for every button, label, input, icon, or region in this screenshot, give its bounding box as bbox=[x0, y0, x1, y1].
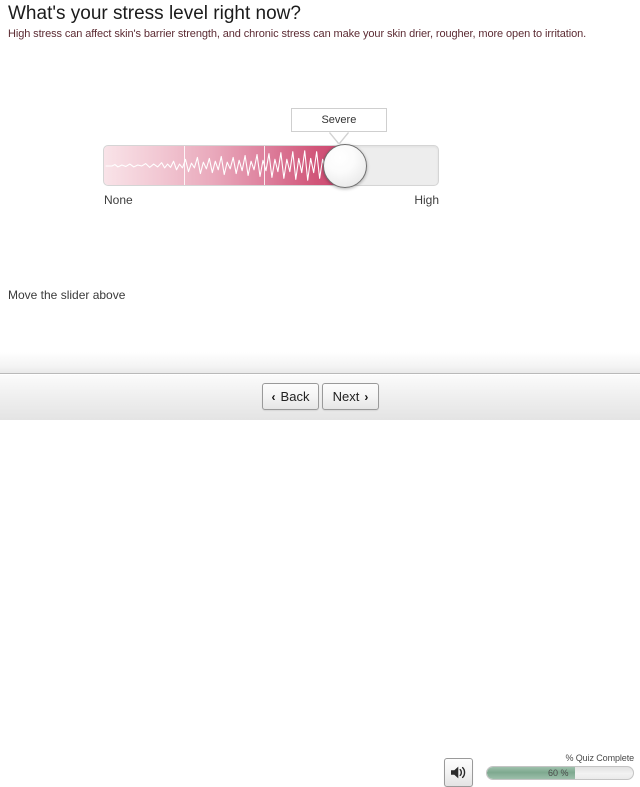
slider-handle[interactable] bbox=[323, 144, 367, 188]
next-button-label: Next bbox=[333, 389, 360, 404]
page-subtitle: High stress can affect skin's barrier st… bbox=[8, 27, 586, 41]
instruction-text: Move the slider above bbox=[8, 288, 125, 302]
slider-tick-1 bbox=[184, 146, 185, 185]
next-button[interactable]: Next › bbox=[322, 383, 379, 410]
stress-level-slider[interactable]: Severe None High bbox=[103, 108, 439, 208]
tooltip-pointer-icon bbox=[330, 132, 348, 143]
quiz-progress-bar: 60 % bbox=[486, 766, 634, 780]
back-button[interactable]: ‹ Back bbox=[262, 383, 319, 410]
page-title: What's your stress level right now? bbox=[8, 2, 301, 25]
slider-fill bbox=[104, 146, 344, 185]
slider-value-tooltip: Severe bbox=[291, 108, 387, 132]
slider-min-label: None bbox=[104, 193, 133, 207]
slider-max-label: High bbox=[414, 193, 439, 207]
chevron-right-icon: › bbox=[364, 391, 368, 403]
ekg-waveform-icon bbox=[104, 146, 344, 185]
speaker-icon bbox=[450, 765, 467, 780]
chevron-left-icon: ‹ bbox=[272, 391, 276, 403]
bottom-navigation-bar: ‹ Back Next › % Quiz Complete 60 % bbox=[0, 374, 640, 420]
audio-toggle-button[interactable] bbox=[444, 758, 473, 787]
back-button-label: Back bbox=[281, 389, 310, 404]
progress-caption: % Quiz Complete bbox=[486, 753, 634, 763]
slider-track[interactable] bbox=[103, 145, 439, 186]
bottom-bar-fade bbox=[0, 352, 640, 373]
slider-tick-2 bbox=[264, 146, 265, 185]
progress-value-label: 60 % bbox=[548, 766, 569, 780]
